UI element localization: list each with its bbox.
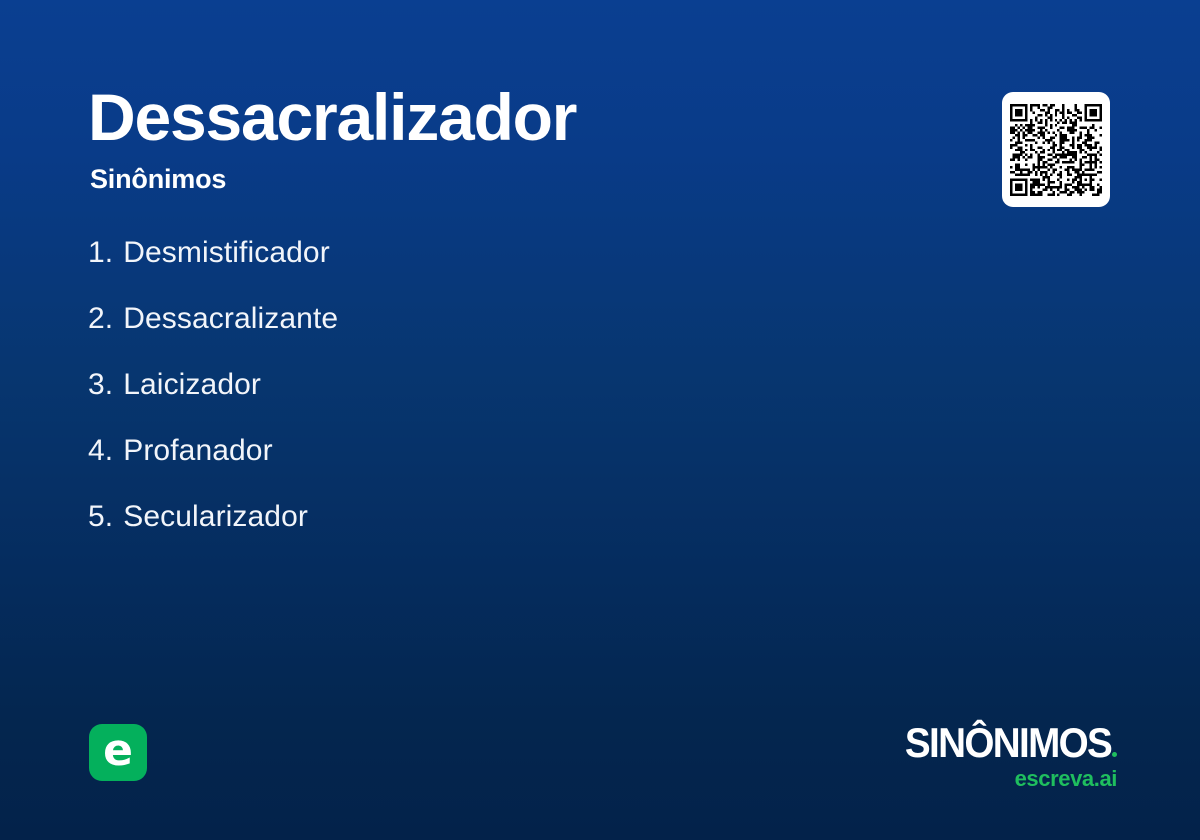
app-logo-letter: e xyxy=(103,729,133,773)
synonym-item: 1.Desmistificador xyxy=(88,236,788,302)
synonym-label: Desmistificador xyxy=(123,236,330,270)
synonym-item: 4.Profanador xyxy=(88,434,788,500)
synonym-index: 5. xyxy=(88,500,113,534)
brand-tagline: escreva.ai xyxy=(887,768,1117,790)
synonym-card: Dessacralizador Sinônimos 1.Desmistifica… xyxy=(0,0,1200,840)
qr-code[interactable] xyxy=(1002,92,1110,207)
synonym-index: 4. xyxy=(88,434,113,468)
brand-lockup[interactable]: SINÔNIMOS escreva.ai xyxy=(887,722,1117,790)
synonym-index: 3. xyxy=(88,368,113,402)
brand-dot-icon xyxy=(1112,752,1117,757)
synonym-label: Profanador xyxy=(123,434,272,468)
brand-name-row: SINÔNIMOS xyxy=(887,722,1117,764)
synonym-label: Secularizador xyxy=(123,500,308,534)
page-title: Dessacralizador xyxy=(88,84,576,150)
synonym-index: 2. xyxy=(88,302,113,336)
section-label: Sinônimos xyxy=(90,166,226,193)
synonym-item: 3.Laicizador xyxy=(88,368,788,434)
brand-name: SINÔNIMOS xyxy=(905,722,1111,764)
qr-code-icon xyxy=(1010,104,1102,196)
synonym-item: 2.Dessacralizante xyxy=(88,302,788,368)
synonym-label: Dessacralizante xyxy=(123,302,338,336)
synonym-list: 1.Desmistificador2.Dessacralizante3.Laic… xyxy=(88,236,788,566)
synonym-index: 1. xyxy=(88,236,113,270)
app-logo-badge[interactable]: e xyxy=(89,724,147,781)
synonym-item: 5.Secularizador xyxy=(88,500,788,566)
synonym-label: Laicizador xyxy=(123,368,261,402)
